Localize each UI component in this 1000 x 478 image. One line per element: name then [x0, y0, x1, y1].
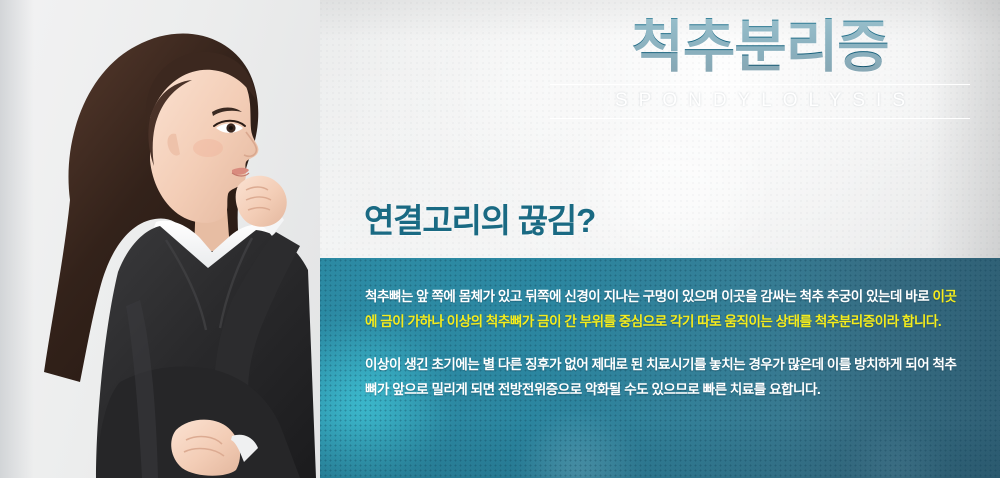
model-photo-illustration [0, 0, 320, 478]
description-copy: 척추뼈는 앞 쪽에 몸체가 있고 뒤쪽에 신경이 지나는 구멍이 있으며 이곳을… [365, 284, 965, 402]
photo-left-edge-shadow [0, 0, 34, 478]
subtitle-rule-wrapper: SPONDYLOLYSIS [550, 84, 970, 119]
spondylolysis-banner: 척추분리증 SPONDYLOLYSIS 연결고리의 끊김? 척추뼈는 앞 쪽에 … [0, 0, 1000, 478]
body-text: 이상이 생긴 초기에는 별 다른 징후가 없어 제대로 된 치료시기를 놓치는 … [365, 357, 956, 397]
title-block: 척추분리증 SPONDYLOLYSIS [550, 18, 970, 119]
page-title: 척추분리증 [550, 18, 970, 78]
description-paragraph: 이상이 생긴 초기에는 별 다른 징후가 없어 제대로 된 치료시기를 놓치는 … [365, 352, 965, 402]
page-subtitle: SPONDYLOLYSIS [550, 90, 970, 112]
panel-shade-bottom [308, 418, 1000, 478]
description-panel: 척추뼈는 앞 쪽에 몸체가 있고 뒤쪽에 신경이 지나는 구멍이 있으며 이곳을… [308, 258, 1000, 478]
model-photo [0, 0, 320, 478]
body-text: 척추뼈는 앞 쪽에 몸체가 있고 뒤쪽에 신경이 지나는 구멍이 있으며 이곳을… [365, 289, 933, 304]
section-headline: 연결고리의 끊김? [364, 194, 595, 242]
description-paragraph: 척추뼈는 앞 쪽에 몸체가 있고 뒤쪽에 신경이 지나는 구멍이 있으며 이곳을… [365, 284, 965, 334]
